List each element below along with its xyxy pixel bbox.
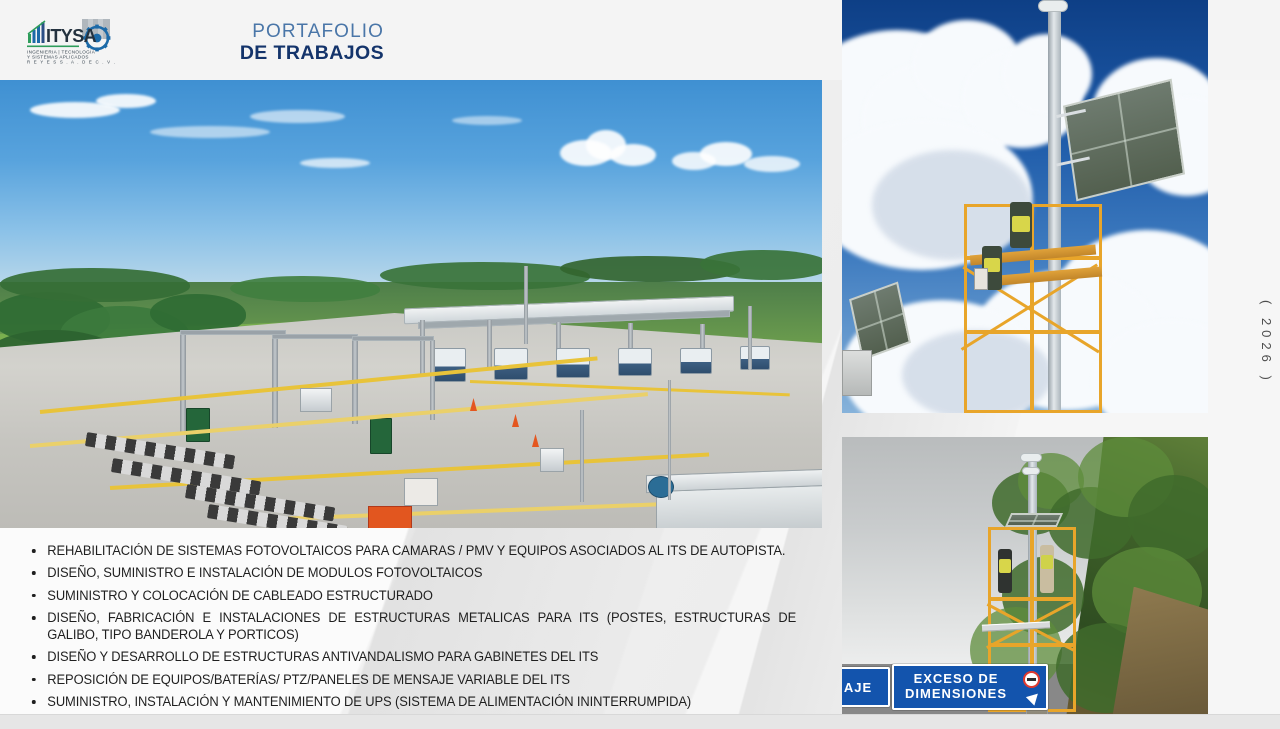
- ptz-camera: [1038, 0, 1068, 12]
- worker: [1040, 545, 1054, 593]
- cloud: [300, 158, 370, 168]
- page-title-top: PORTAFOLIO: [240, 22, 384, 43]
- list-item: DISEÑO, SUMINISTRO E INSTALACIÓN DE MODU…: [28, 565, 796, 582]
- orange-barrier: [368, 506, 412, 528]
- list-item: SUMINISTRO Y COLOCACIÓN DE CABLEADO ESTR…: [28, 588, 796, 605]
- toll-booth: [618, 348, 652, 376]
- worker-hi-vis-vest: [1012, 216, 1030, 232]
- sign-exceso-dimensiones: EXCESO DE DIMENSIONES: [892, 664, 1048, 710]
- list-item: SUMINISTRO, INSTALACIÓN Y MANTENIMIENTO …: [28, 694, 796, 711]
- guide-sign: [370, 418, 392, 454]
- cloud: [744, 156, 800, 172]
- light-pole: [524, 266, 528, 344]
- list-item: REHABILITACIÓN DE SISTEMAS FOTOVOLTAICOS…: [28, 543, 796, 560]
- light-pole: [580, 410, 584, 502]
- sign-line-2: DIMENSIONES: [905, 687, 1007, 702]
- viewer-bottom-bar: [0, 714, 1280, 729]
- roadside-sign-photo: AJE EXCESO DE DIMENSIONES: [842, 437, 1208, 714]
- camera-housing: [1022, 467, 1040, 475]
- its-cross-arm: [352, 336, 434, 341]
- its-pole: [430, 340, 435, 420]
- its-cross-arm: [180, 330, 286, 335]
- fence-post: [668, 380, 671, 500]
- ptz-camera: [1020, 453, 1042, 462]
- warehouse-wall: [656, 485, 822, 528]
- logo-tagline-3: R E Y E S S . A . D E C . V .: [27, 60, 116, 65]
- solar-panel: [1005, 513, 1063, 527]
- solar-mast-photo: [842, 0, 1208, 413]
- cloud: [96, 94, 156, 108]
- toll-plaza-photo: [0, 80, 822, 528]
- its-cross-arm: [272, 334, 358, 339]
- guide-sign: [186, 408, 210, 442]
- canopy-column: [420, 320, 425, 376]
- svg-text:ITYSA: ITYSA: [46, 26, 97, 46]
- diagonal-arrow-icon: [1026, 689, 1042, 705]
- equipment-cabinet: [540, 448, 564, 472]
- cloud: [150, 126, 270, 138]
- page-title-bottom: DE TRABAJOS: [240, 43, 384, 64]
- list-item: DISEÑO, FABRICACIÓN E INSTALACIONES DE E…: [28, 610, 796, 644]
- equipment-cabinet: [300, 388, 332, 412]
- scope-of-works-list: REHABILITACIÓN DE SISTEMAS FOTOVOLTAICOS…: [28, 543, 824, 714]
- list-item: DISEÑO Y DESARROLLO DE ESTRUCTURAS ANTIV…: [28, 649, 796, 666]
- company-logo: ITYSA INGENIERIA | TECNOLOGÍA Y SISTEMAS…: [26, 18, 118, 66]
- worker-hi-vis-vest: [999, 559, 1011, 573]
- cloud: [452, 116, 522, 125]
- header-title-block: PORTAFOLIO DE TRABAJOS: [240, 22, 384, 64]
- light-pole: [748, 306, 752, 370]
- sign-line-1: EXCESO DE: [914, 672, 999, 687]
- sign-peaje: AJE: [842, 667, 890, 707]
- concrete-block: [404, 478, 438, 506]
- logo-tagline-1: INGENIERIA | TECNOLOGÍA: [27, 49, 96, 55]
- its-pole: [272, 336, 278, 428]
- paint-bucket: [974, 268, 988, 290]
- slide-canvas: ITYSA INGENIERIA | TECNOLOGÍA Y SISTEMAS…: [0, 0, 1280, 714]
- year-label: ( 2026 ): [1259, 300, 1274, 385]
- no-oversize-circle-icon: [1023, 671, 1040, 688]
- sign-peaje-text: AJE: [844, 680, 872, 695]
- cloud: [250, 110, 345, 123]
- bullet-list: REHABILITACIÓN DE SISTEMAS FOTOVOLTAICOS…: [28, 543, 824, 711]
- toll-booth: [680, 348, 712, 374]
- list-item: REPOSICIÓN DE EQUIPOS/BATERÍAS/ PTZ/PANE…: [28, 672, 796, 689]
- slide-header: ITYSA INGENIERIA | TECNOLOGÍA Y SISTEMAS…: [0, 0, 842, 80]
- canopy-column: [487, 320, 492, 370]
- cloud: [610, 144, 656, 166]
- worker-hi-vis-vest: [1041, 555, 1053, 569]
- toll-booth: [740, 346, 770, 370]
- battery-cabinet: [842, 350, 872, 396]
- toll-booth: [432, 348, 466, 382]
- itysa-logo-icon: ITYSA INGENIERIA | TECNOLOGÍA Y SISTEMAS…: [26, 18, 118, 66]
